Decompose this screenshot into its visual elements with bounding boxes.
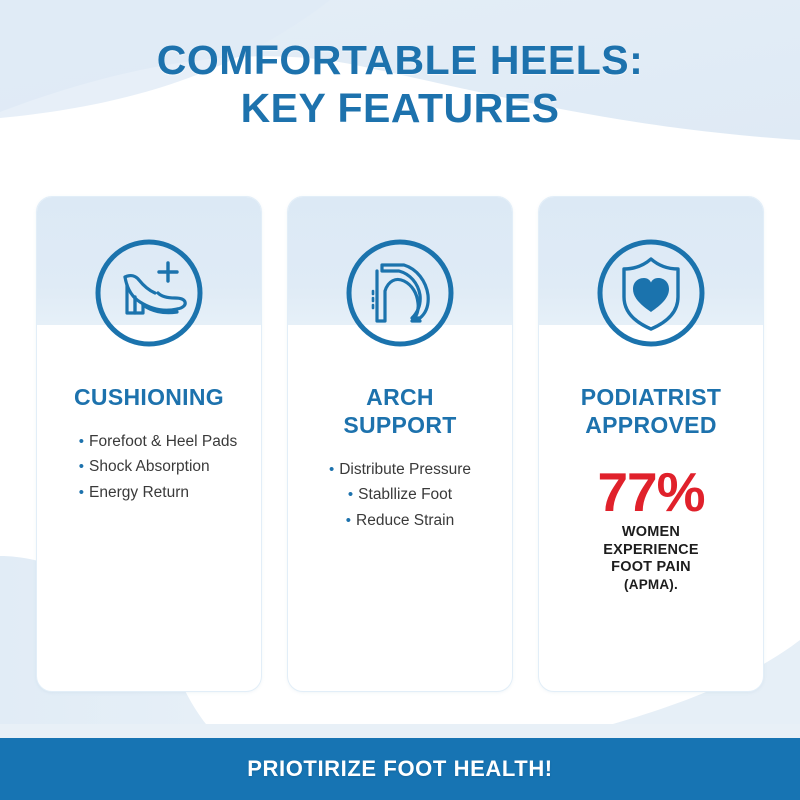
card-heading-podiatrist-approved: PODIATRIST APPROVED xyxy=(573,383,730,439)
list-item: •Distribute Pressure xyxy=(329,457,471,482)
bullet-dot-icon: • xyxy=(79,484,84,501)
card-heading-line-1: PODIATRIST xyxy=(581,383,722,411)
high-heel-shoe-plus-icon xyxy=(91,235,207,351)
bullet-text: Forefoot & Heel Pads xyxy=(89,433,237,450)
feature-card-cushioning[interactable]: CUSHIONING •Forefoot & Heel Pads •Shock … xyxy=(36,196,262,692)
card-heading-line-2: SUPPORT xyxy=(343,411,456,439)
footer-cta-text: PRIOTIRIZE FOOT HEALTH! xyxy=(247,756,552,782)
card-heading-line-2: APPROVED xyxy=(581,411,722,439)
list-item: •Reduce Strain xyxy=(329,508,471,533)
footer-cta-bar: PRIOTIRIZE FOOT HEALTH! xyxy=(0,738,800,800)
bullet-text: Stabllize Foot xyxy=(358,486,452,503)
feature-card-arch-support[interactable]: ARCH SUPPORT •Distribute Pressure •Stabl… xyxy=(287,196,513,692)
card-heading-cushioning: CUSHIONING xyxy=(66,383,232,411)
statistic-block: 77% WOMEN EXPERIENCE FOOT PAIN (APMA). xyxy=(597,465,704,594)
feature-card-podiatrist-approved[interactable]: PODIATRIST APPROVED 77% WOMEN EXPERIENCE… xyxy=(538,196,764,692)
bullet-list-cushioning: •Forefoot & Heel Pads •Shock Absorption … xyxy=(61,429,237,505)
bullet-dot-icon: • xyxy=(329,461,334,478)
list-item: •Energy Return xyxy=(79,480,237,505)
title-line-1: COMFORTABLE HEELS: xyxy=(0,36,800,84)
statistic-caption: WOMEN EXPERIENCE FOOT PAIN (APMA). xyxy=(597,524,704,594)
feature-cards-row: CUSHIONING •Forefoot & Heel Pads •Shock … xyxy=(36,196,764,690)
bullet-text: Reduce Strain xyxy=(356,512,454,529)
statistic-caption-line-3: FOOT PAIN xyxy=(597,559,704,577)
bullet-dot-icon: • xyxy=(346,512,351,529)
footer-top-band xyxy=(0,724,800,738)
list-item: •Forefoot & Heel Pads xyxy=(79,429,237,454)
statistic-caption-line-4: (APMA). xyxy=(597,577,704,593)
bullet-dot-icon: • xyxy=(348,486,353,503)
infographic-poster: COMFORTABLE HEELS: KEY FEATURES xyxy=(0,0,800,800)
card-heading-line-1: CUSHIONING xyxy=(74,383,224,411)
statistic-value: 77% xyxy=(597,465,704,520)
bullet-dot-icon: • xyxy=(79,433,84,450)
card-heading-line-1: ARCH xyxy=(343,383,456,411)
bullet-list-arch-support: •Distribute Pressure •Stabllize Foot •Re… xyxy=(329,457,471,533)
bullet-text: Shock Absorption xyxy=(89,458,210,475)
foot-arch-insole-icon xyxy=(342,235,458,351)
statistic-caption-line-1: WOMEN xyxy=(597,524,704,542)
card-heading-arch-support: ARCH SUPPORT xyxy=(335,383,464,439)
statistic-caption-line-2: EXPERIENCE xyxy=(597,542,704,560)
list-item: •Shock Absorption xyxy=(79,454,237,479)
title-line-2: KEY FEATURES xyxy=(0,84,800,132)
bullet-text: Energy Return xyxy=(89,484,189,501)
shield-heart-icon xyxy=(593,235,709,351)
page-title: COMFORTABLE HEELS: KEY FEATURES xyxy=(0,36,800,133)
list-item: •Stabllize Foot xyxy=(329,482,471,507)
bullet-dot-icon: • xyxy=(79,458,84,475)
bullet-text: Distribute Pressure xyxy=(339,461,471,478)
